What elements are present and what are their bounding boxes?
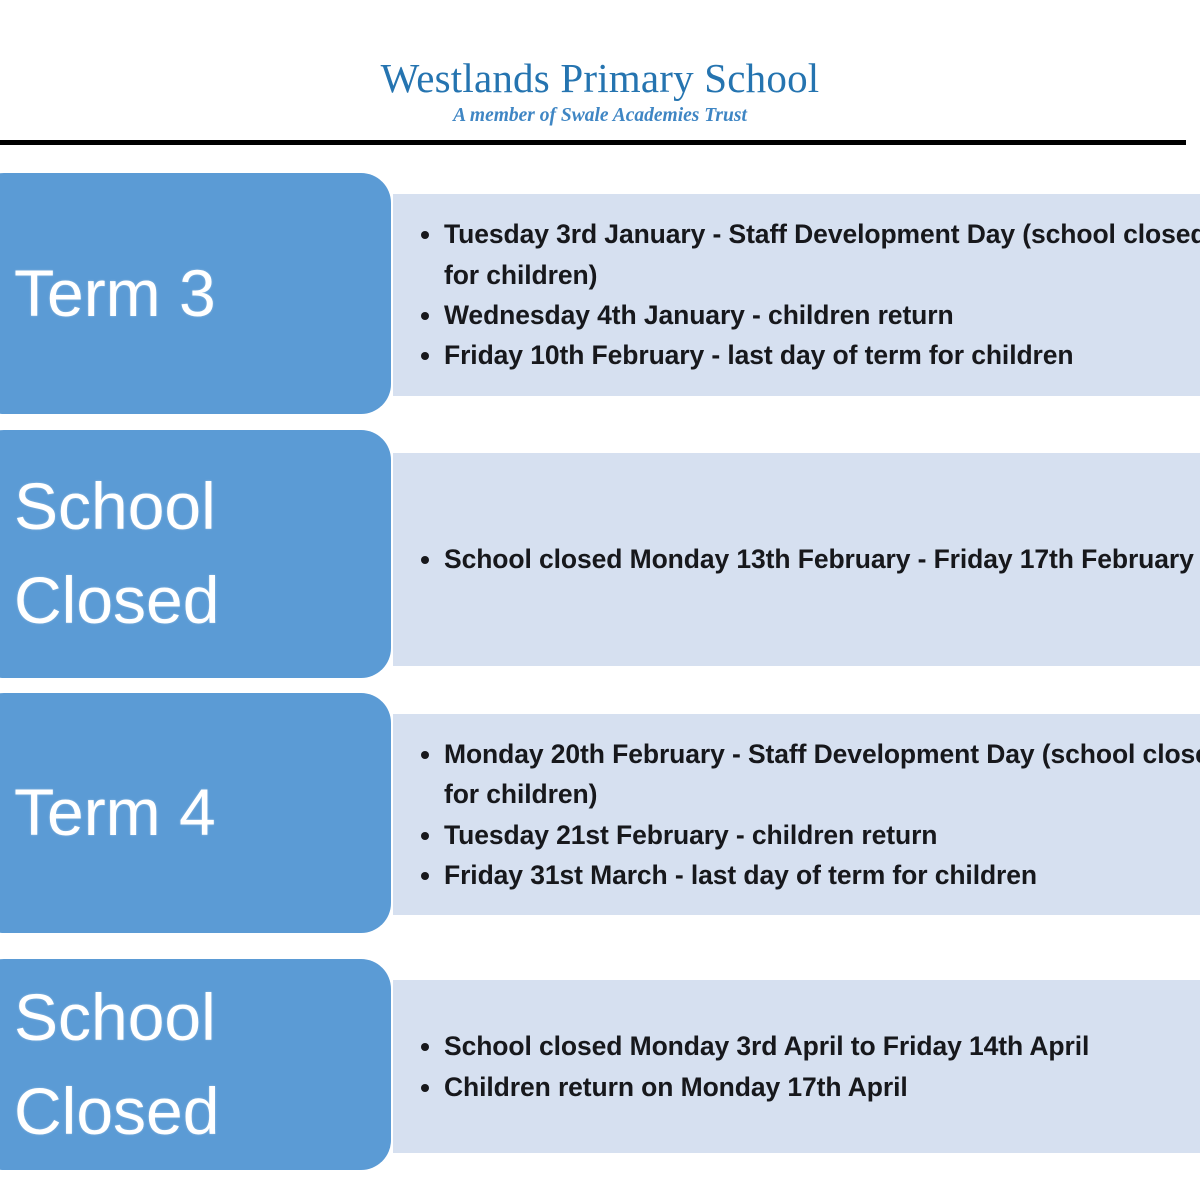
row-content-panel: Monday 20th February - Staff Development… — [393, 714, 1200, 915]
row-label-line: Closed — [14, 1065, 391, 1159]
list-item: Tuesday 3rd January - Staff Development … — [411, 214, 1200, 295]
term-row: School Closed School closed Monday 3rd A… — [0, 959, 1200, 1200]
row-label-line: Closed — [14, 554, 391, 648]
row-label-line: School — [14, 460, 391, 554]
bullet-list: Tuesday 3rd January - Staff Development … — [411, 214, 1200, 375]
list-item: Monday 20th February - Staff Development… — [411, 734, 1200, 815]
list-item: Children return on Monday 17th April — [411, 1067, 1200, 1107]
row-label-line: Term 3 — [14, 247, 391, 341]
bullet-list: School closed Monday 13th February - Fri… — [411, 539, 1200, 579]
term-row: Term 3 Tuesday 3rd January - Staff Devel… — [0, 144, 1200, 429]
term-row: Term 4 Monday 20th February - Staff Deve… — [0, 687, 1200, 959]
row-content-panel: Tuesday 3rd January - Staff Development … — [393, 194, 1200, 396]
page-header: Westlands Primary School A member of Swa… — [0, 0, 1200, 144]
school-title: Westlands Primary School — [0, 0, 1200, 100]
row-label-block: School Closed — [0, 430, 391, 678]
row-content-panel: School closed Monday 13th February - Fri… — [393, 453, 1200, 666]
term-dates-list: Term 3 Tuesday 3rd January - Staff Devel… — [0, 144, 1200, 1200]
row-label-line: Term 4 — [14, 766, 391, 860]
bullet-list: School closed Monday 3rd April to Friday… — [411, 1026, 1200, 1107]
row-label-line: School — [14, 971, 391, 1065]
list-item: Friday 31st March - last day of term for… — [411, 855, 1200, 895]
school-subtitle: A member of Swale Academies Trust — [0, 100, 1200, 127]
bullet-list: Monday 20th February - Staff Development… — [411, 734, 1200, 895]
list-item: Friday 10th February - last day of term … — [411, 335, 1200, 375]
list-item: Tuesday 21st February - children return — [411, 815, 1200, 855]
list-item: School closed Monday 13th February - Fri… — [411, 539, 1200, 579]
row-content-panel: School closed Monday 3rd April to Friday… — [393, 980, 1200, 1153]
list-item: Wednesday 4th January - children return — [411, 295, 1200, 335]
row-label-block: School Closed — [0, 959, 391, 1170]
term-row: School Closed School closed Monday 13th … — [0, 429, 1200, 687]
row-label-block: Term 3 — [0, 173, 391, 414]
list-item: School closed Monday 3rd April to Friday… — [411, 1026, 1200, 1066]
row-label-block: Term 4 — [0, 693, 391, 933]
